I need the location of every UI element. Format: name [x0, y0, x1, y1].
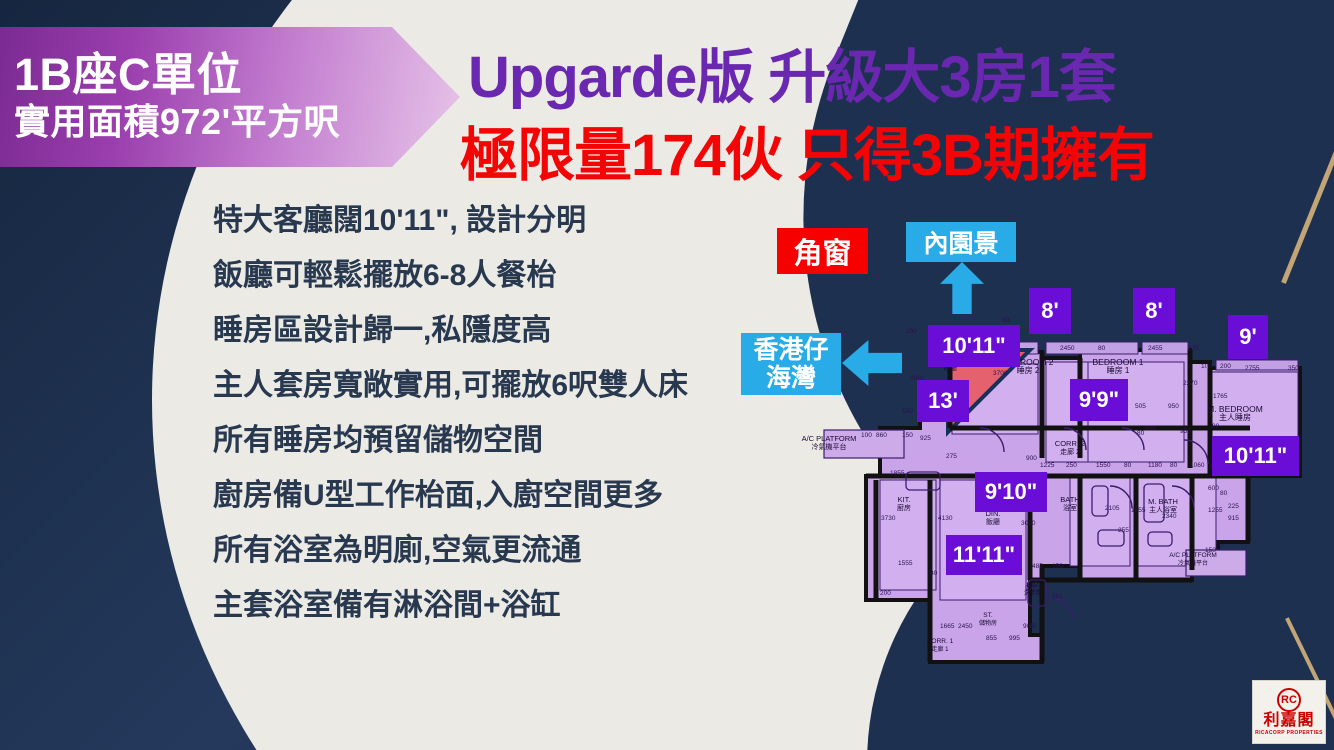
- svg-text:505: 505: [1135, 403, 1146, 410]
- feature-bullet: 特大客廳闊10'11", 設計分明: [213, 206, 813, 236]
- svg-text:3730: 3730: [881, 515, 896, 522]
- unit-banner-title: 1B座C單位: [14, 52, 460, 97]
- svg-text:605: 605: [1145, 425, 1156, 432]
- svg-text:900: 900: [1026, 455, 1037, 462]
- svg-text:1665: 1665: [940, 623, 955, 630]
- svg-text:1765: 1765: [1213, 393, 1228, 400]
- svg-text:80: 80: [1170, 462, 1178, 469]
- dimension-badge: 10'11": [928, 325, 1020, 367]
- svg-text:3700: 3700: [993, 370, 1008, 377]
- svg-text:2105: 2105: [1105, 505, 1120, 512]
- svg-text:飯廳: 飯廳: [986, 517, 1000, 526]
- headline-secondary: 極限量174伙 只得3B期擁有: [460, 108, 1154, 192]
- svg-text:225: 225: [1228, 503, 1239, 510]
- svg-text:150: 150: [902, 432, 913, 439]
- feature-list: 特大客廳闊10'11", 設計分明飯廳可輕鬆擺放6-8人餐枱睡房區設計歸一,私隱…: [213, 206, 813, 646]
- feature-bullet: 主人套房寬敞實用,可擺放6呎雙人床: [213, 371, 813, 401]
- svg-text:80: 80: [1002, 317, 1010, 324]
- svg-text:950: 950: [1168, 403, 1179, 410]
- svg-text:睡房 1: 睡房 1: [1107, 365, 1130, 375]
- svg-text:80: 80: [1137, 430, 1145, 437]
- svg-text:100: 100: [861, 432, 872, 439]
- svg-text:80: 80: [1098, 345, 1106, 352]
- svg-text:廚房: 廚房: [897, 503, 911, 512]
- unit-banner-area: 實用面積972'平方呎: [14, 101, 460, 142]
- svg-text:200: 200: [880, 590, 891, 597]
- svg-text:905: 905: [1025, 585, 1036, 592]
- svg-text:150: 150: [902, 408, 913, 415]
- svg-text:睡房 2: 睡房 2: [1017, 365, 1040, 375]
- svg-text:主人睡房: 主人睡房: [1219, 412, 1251, 422]
- svg-text:冷氣機平台: 冷氣機平台: [1178, 559, 1208, 567]
- svg-text:80: 80: [1124, 462, 1132, 469]
- dimension-badge: 8': [1133, 288, 1175, 334]
- svg-text:儲物房: 儲物房: [979, 619, 997, 627]
- svg-text:ST.: ST.: [983, 612, 993, 619]
- svg-text:BATH: BATH: [1060, 495, 1079, 504]
- svg-text:2450: 2450: [958, 623, 973, 630]
- svg-text:100: 100: [906, 328, 917, 335]
- svg-text:100: 100: [1201, 363, 1212, 370]
- svg-text:80: 80: [1212, 423, 1220, 430]
- svg-text:80: 80: [1029, 623, 1037, 630]
- svg-text:855: 855: [986, 635, 997, 642]
- svg-text:1855: 1855: [1131, 507, 1146, 514]
- svg-text:2455: 2455: [1148, 345, 1163, 352]
- svg-text:950: 950: [1180, 428, 1191, 435]
- feature-bullet: 所有浴室為明廁,空氣更流通: [213, 536, 813, 566]
- dimension-badge: 13': [917, 380, 969, 422]
- svg-text:CORR. 2: CORR. 2: [1055, 439, 1085, 448]
- dimension-badge: 9'9": [1070, 379, 1128, 421]
- svg-text:80: 80: [1220, 490, 1228, 497]
- svg-text:350: 350: [1288, 365, 1299, 372]
- svg-text:浴室: 浴室: [1063, 503, 1077, 512]
- svg-text:275: 275: [946, 453, 957, 460]
- feature-bullet: 睡房區設計歸一,私隱度高: [213, 316, 813, 346]
- svg-text:255: 255: [1118, 527, 1129, 534]
- dimension-badge: 9'10": [975, 472, 1047, 512]
- svg-text:251: 251: [1052, 593, 1063, 600]
- svg-text:860: 860: [876, 432, 887, 439]
- svg-text:485: 485: [1032, 563, 1043, 570]
- svg-text:4130: 4130: [938, 515, 953, 522]
- svg-text:250: 250: [1066, 462, 1077, 469]
- svg-text:走廊 2: 走廊 2: [1060, 447, 1080, 456]
- feature-bullet: 飯廳可輕鬆擺放6-8人餐枱: [213, 261, 813, 291]
- svg-text:3000: 3000: [1021, 520, 1036, 527]
- svg-text:915: 915: [1228, 515, 1239, 522]
- svg-text:1555: 1555: [898, 560, 913, 567]
- dimension-badge: 9': [1228, 315, 1268, 359]
- svg-text:1550: 1550: [1096, 462, 1111, 469]
- svg-text:A/C PLATFORM: A/C PLATFORM: [802, 434, 857, 443]
- svg-text:200: 200: [1220, 363, 1231, 370]
- svg-text:1225: 1225: [1040, 462, 1055, 469]
- svg-text:150: 150: [1205, 547, 1216, 554]
- svg-text:995: 995: [1009, 635, 1020, 642]
- svg-text:CORR. 1: CORR. 1: [927, 638, 954, 645]
- floor-plan: LIV.客廳BEDROOM 2睡房 2BEDROOM 1睡房 1M. BEDRO…: [780, 280, 1334, 680]
- svg-text:2340: 2340: [1162, 513, 1177, 520]
- svg-text:600: 600: [1208, 485, 1219, 492]
- svg-text:KIT.: KIT.: [898, 495, 911, 504]
- logo-english-name: RICACORP PROPERTIES: [1255, 730, 1323, 736]
- svg-text:2755: 2755: [1245, 365, 1260, 372]
- svg-text:375: 375: [1188, 345, 1199, 352]
- svg-text:1855: 1855: [890, 470, 905, 477]
- logo-monogram: RC: [1277, 688, 1301, 712]
- feature-bullet: 所有睡房均預留儲物空間: [213, 426, 813, 456]
- svg-text:1180: 1180: [1148, 462, 1162, 469]
- svg-text:1060: 1060: [1190, 462, 1205, 469]
- company-logo: RC 利嘉閣 RICACORP PROPERTIES: [1252, 680, 1326, 744]
- feature-bullet: 廚房備U型工作枱面,入廚空間更多: [213, 481, 813, 511]
- svg-text:冷氣機平台: 冷氣機平台: [812, 442, 847, 451]
- callout-garden-view: 內園景: [906, 222, 1016, 262]
- svg-text:80: 80: [930, 570, 938, 577]
- svg-text:2270: 2270: [1183, 380, 1198, 387]
- dimension-badge: 10'11": [1212, 436, 1299, 476]
- svg-text:2450: 2450: [1060, 345, 1075, 352]
- svg-text:走廊 1: 走廊 1: [931, 645, 949, 653]
- svg-text:M. BATH: M. BATH: [1148, 497, 1178, 506]
- logo-chinese-name: 利嘉閣: [1263, 713, 1314, 729]
- dimension-badge: 8': [1029, 288, 1071, 334]
- callout-corner-window: 角窗: [777, 228, 868, 274]
- feature-bullet: 主套浴室備有淋浴間+浴缸: [213, 591, 813, 621]
- svg-text:925: 925: [920, 435, 931, 442]
- slide-canvas: 1B座C單位 實用面積972'平方呎 Upgarde版 升級大3房1套 極限量1…: [0, 0, 1334, 750]
- unit-banner: 1B座C單位 實用面積972'平方呎: [0, 27, 460, 167]
- headline-primary: Upgarde版 升級大3房1套: [468, 30, 1116, 114]
- svg-text:150: 150: [1052, 563, 1063, 570]
- dimension-badge: 11'11": [946, 535, 1022, 575]
- svg-text:1255: 1255: [1208, 507, 1223, 514]
